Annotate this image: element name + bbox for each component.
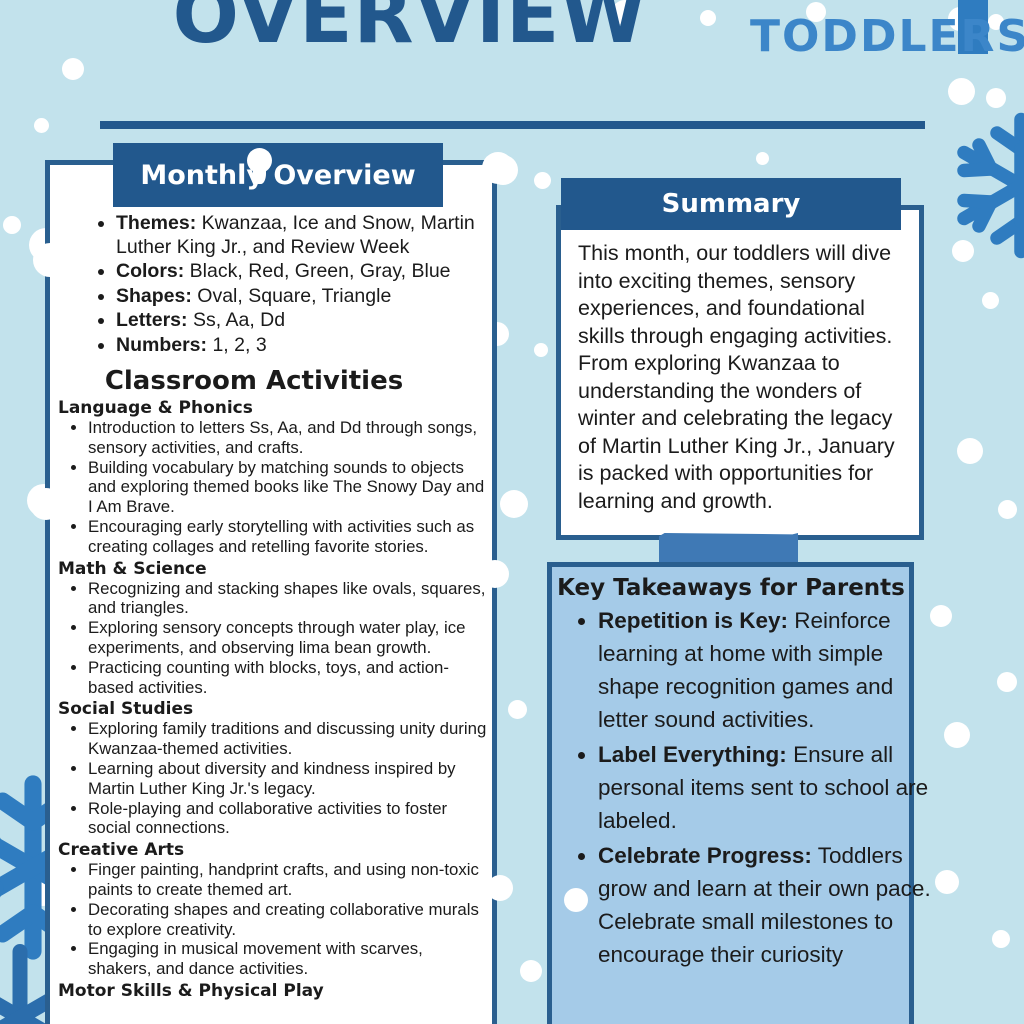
summary-text: This month, our toddlers will dive into … bbox=[578, 240, 908, 515]
item-label: Letters: bbox=[116, 309, 188, 331]
snow-dot-icon bbox=[487, 875, 513, 901]
item-value: Oval, Square, Triangle bbox=[197, 285, 391, 307]
snow-dot-icon bbox=[33, 243, 67, 277]
monthly-overview-ribbon: Monthly Overview bbox=[113, 143, 443, 207]
snow-dot-icon bbox=[534, 172, 551, 189]
item-label: Colors: bbox=[116, 260, 184, 282]
item-label: Label Everything: bbox=[598, 742, 787, 767]
list-item: Encouraging early storytelling with acti… bbox=[88, 517, 490, 557]
group-list-language: Introduction to letters Ss, Aa, and Dd t… bbox=[58, 418, 490, 557]
item-label: Repetition is Key: bbox=[598, 608, 788, 633]
summary-ribbon: Summary bbox=[561, 178, 901, 230]
snow-dot-icon bbox=[253, 158, 266, 184]
snow-dot-icon bbox=[30, 488, 62, 520]
group-list-social: Exploring family traditions and discussi… bbox=[58, 719, 490, 838]
group-list-creative: Finger painting, handprint crafts, and u… bbox=[58, 860, 490, 979]
list-item: Role-playing and collaborative activitie… bbox=[88, 799, 490, 839]
item-label: Themes: bbox=[116, 212, 196, 234]
list-item: Exploring family traditions and discussi… bbox=[88, 719, 490, 759]
header-audience: TODDLERS bbox=[750, 11, 1024, 62]
list-item: Practicing counting with blocks, toys, a… bbox=[88, 658, 490, 698]
list-item: Recognizing and stacking shapes like ova… bbox=[88, 579, 490, 619]
item-value: Black, Red, Green, Gray, Blue bbox=[190, 260, 451, 282]
list-item: Engaging in musical movement with scarve… bbox=[88, 939, 490, 979]
snow-dot-icon bbox=[992, 930, 1010, 948]
group-heading-creative: Creative Arts bbox=[58, 840, 490, 860]
group-heading-math: Math & Science bbox=[58, 559, 490, 579]
item-label: Shapes: bbox=[116, 285, 192, 307]
monthly-overview-list: Themes: Kwanzaa, Ice and Snow, Martin Lu… bbox=[58, 212, 490, 357]
item-value: Ss, Aa, Dd bbox=[193, 309, 285, 331]
list-item: Exploring sensory concepts through water… bbox=[88, 618, 490, 658]
snow-dot-icon bbox=[998, 500, 1017, 519]
list-item: Building vocabulary by matching sounds t… bbox=[88, 458, 490, 517]
snowflake-icon bbox=[946, 108, 1024, 263]
snow-dot-icon bbox=[957, 438, 983, 464]
item-label: Celebrate Progress: bbox=[598, 843, 812, 868]
snow-dot-icon bbox=[520, 960, 542, 982]
snow-dot-icon bbox=[564, 888, 588, 912]
list-item: Learning about diversity and kindness in… bbox=[88, 759, 490, 799]
header-overview: OVERVIEW bbox=[100, 0, 720, 58]
poster-canvas: JANUARY OVERVIEW TODDLERS Themes: Kwanza… bbox=[0, 0, 1024, 1024]
list-item: Repetition is Key: Reinforce learning at… bbox=[598, 604, 948, 736]
key-takeaways-list: Repetition is Key: Reinforce learning at… bbox=[560, 604, 948, 973]
list-item: Finger painting, handprint crafts, and u… bbox=[88, 860, 490, 900]
list-item: Decorating shapes and creating collabora… bbox=[88, 900, 490, 940]
list-item: Numbers: 1, 2, 3 bbox=[116, 334, 490, 358]
poster-header: JANUARY OVERVIEW TODDLERS bbox=[0, 0, 1024, 124]
snow-dot-icon bbox=[481, 560, 509, 588]
snow-dot-icon bbox=[982, 292, 999, 309]
classroom-activities-title: Classroom Activities bbox=[58, 366, 450, 396]
list-item: Label Everything: Ensure all personal it… bbox=[598, 738, 948, 837]
key-takeaways-title: Key Takeaways for Parents bbox=[556, 575, 906, 601]
snow-dot-icon bbox=[508, 700, 527, 719]
header-divider bbox=[100, 121, 925, 129]
snow-dot-icon bbox=[3, 216, 21, 234]
item-value: 1, 2, 3 bbox=[212, 334, 266, 356]
list-item: Themes: Kwanzaa, Ice and Snow, Martin Lu… bbox=[116, 212, 490, 259]
monthly-overview-body: Themes: Kwanzaa, Ice and Snow, Martin Lu… bbox=[58, 212, 490, 1001]
snow-dot-icon bbox=[756, 152, 769, 165]
list-item: Introduction to letters Ss, Aa, and Dd t… bbox=[88, 418, 490, 458]
group-heading-motor: Motor Skills & Physical Play bbox=[58, 981, 490, 1001]
list-item: Letters: Ss, Aa, Dd bbox=[116, 309, 490, 333]
list-item: Colors: Black, Red, Green, Gray, Blue bbox=[116, 260, 490, 284]
list-item: Shapes: Oval, Square, Triangle bbox=[116, 285, 490, 309]
snow-dot-icon bbox=[500, 490, 528, 518]
list-item: Celebrate Progress: Toddlers grow and le… bbox=[598, 839, 948, 971]
snow-dot-icon bbox=[997, 672, 1017, 692]
item-label: Numbers: bbox=[116, 334, 207, 356]
group-list-math: Recognizing and stacking shapes like ova… bbox=[58, 579, 490, 698]
snow-dot-icon bbox=[482, 152, 514, 184]
group-heading-social: Social Studies bbox=[58, 699, 490, 719]
snow-dot-icon bbox=[534, 343, 548, 357]
group-heading-language: Language & Phonics bbox=[58, 398, 490, 418]
